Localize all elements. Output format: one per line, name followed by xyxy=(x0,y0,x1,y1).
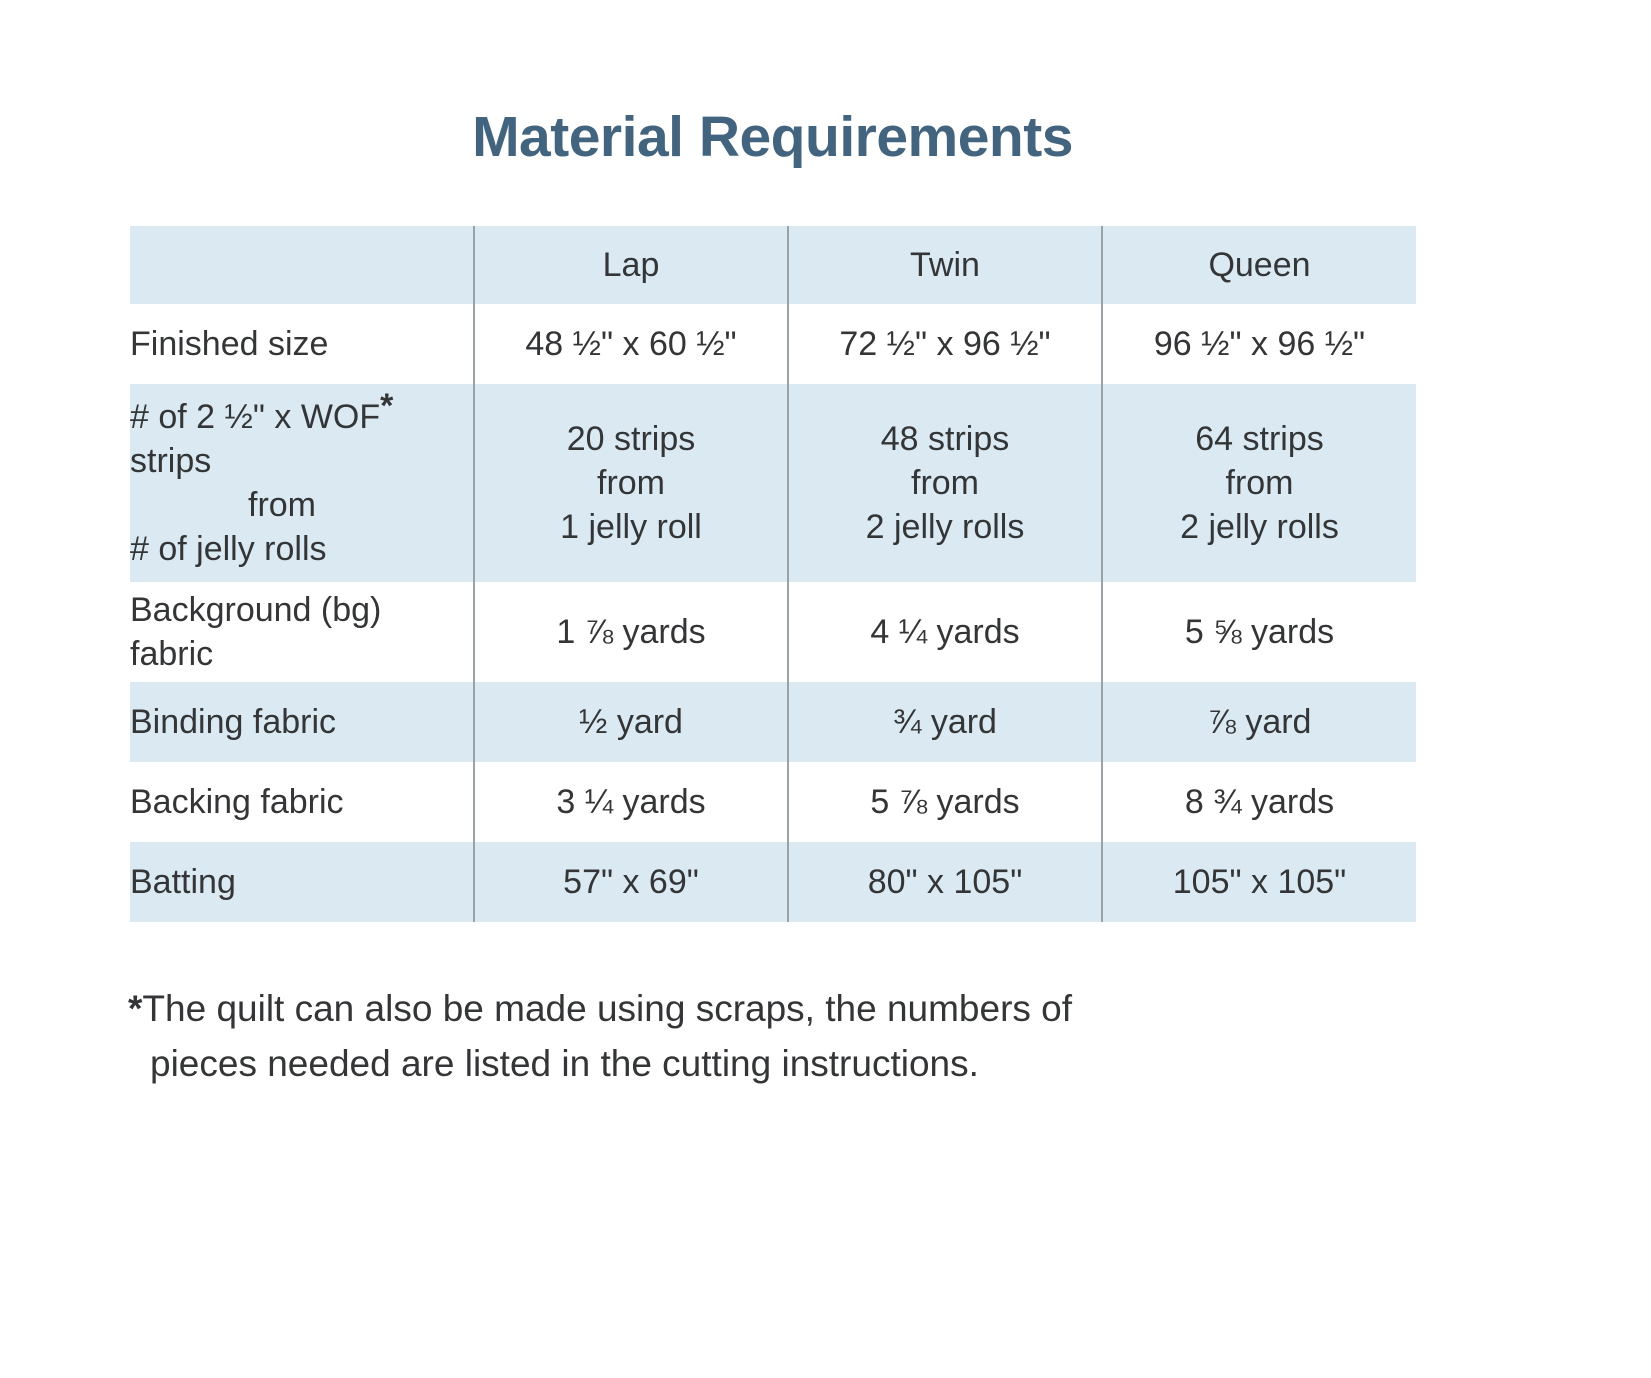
cell-strips-queen: 64 strips from 2 jelly rolls xyxy=(1102,384,1416,582)
table-header-row: Lap Twin Queen xyxy=(130,226,1416,304)
cell-binding-lap: ½ yard xyxy=(474,682,788,762)
material-requirements-table: Lap Twin Queen Finished size 48 ½" x 60 … xyxy=(130,226,1416,922)
header-cell-twin: Twin xyxy=(788,226,1102,304)
cell-background-lap: 1 ⅞ yards xyxy=(474,582,788,682)
row-label-background-fabric: Background (bg) fabric xyxy=(130,582,474,682)
cell-binding-twin: ¾ yard xyxy=(788,682,1102,762)
cell-backing-lap: 3 ¼ yards xyxy=(474,762,788,842)
cell-backing-queen: 8 ¾ yards xyxy=(1102,762,1416,842)
cell-batting-queen: 105" x 105" xyxy=(1102,842,1416,922)
row-label-background-fabric-text: Background (bg) fabric xyxy=(130,588,473,676)
cell-batting-lap: 57" x 69" xyxy=(474,842,788,922)
cell-strips-lap-text: 20 strips from 1 jelly roll xyxy=(475,417,787,550)
row-label-strips-line1: # of 2 ½" x WOF* xyxy=(130,395,473,439)
header-cell-blank xyxy=(130,226,474,304)
footnote-asterisk: * xyxy=(128,988,142,1029)
row-label-strips: # of 2 ½" x WOF* strips from # of jelly … xyxy=(130,384,474,582)
cell-finished-size-queen: 96 ½" x 96 ½" xyxy=(1102,304,1416,384)
cell-strips-twin-text: 48 strips from 2 jelly rolls xyxy=(789,417,1101,550)
cell-strips-lap: 20 strips from 1 jelly roll xyxy=(474,384,788,582)
table-row: Background (bg) fabric 1 ⅞ yards 4 ¼ yar… xyxy=(130,582,1416,682)
row-label-binding-fabric: Binding fabric xyxy=(130,682,474,762)
header-cell-queen: Queen xyxy=(1102,226,1416,304)
table-row: Batting 57" x 69" 80" x 105" 105" x 105" xyxy=(130,842,1416,922)
footnote: *The quilt can also be made using scraps… xyxy=(128,982,1428,1092)
cell-strips-twin: 48 strips from 2 jelly rolls xyxy=(788,384,1102,582)
page-title: Material Requirements xyxy=(0,104,1545,170)
row-label-strips-line3: from xyxy=(130,483,473,527)
row-label-strips-text1: # of 2 ½" x WOF xyxy=(130,398,380,436)
row-label-backing-fabric: Backing fabric xyxy=(130,762,474,842)
table-row: # of 2 ½" x WOF* strips from # of jelly … xyxy=(130,384,1416,582)
table-row: Backing fabric 3 ¼ yards 5 ⅞ yards 8 ¾ y… xyxy=(130,762,1416,842)
cell-finished-size-twin: 72 ½" x 96 ½" xyxy=(788,304,1102,384)
row-label-strips-line4: # of jelly rolls xyxy=(130,527,473,571)
material-requirements-table-wrap: Lap Twin Queen Finished size 48 ½" x 60 … xyxy=(130,226,1416,922)
asterisk-marker: * xyxy=(380,387,393,425)
table-row: Binding fabric ½ yard ¾ yard ⅞ yard xyxy=(130,682,1416,762)
footnote-line-2: pieces needed are listed in the cutting … xyxy=(128,1037,1428,1092)
table-row: Finished size 48 ½" x 60 ½" 72 ½" x 96 ½… xyxy=(130,304,1416,384)
cell-strips-queen-text: 64 strips from 2 jelly rolls xyxy=(1103,417,1416,550)
material-requirements-page: Material Requirements Lap Twin Queen Fin… xyxy=(0,0,1651,1378)
cell-batting-twin: 80" x 105" xyxy=(788,842,1102,922)
row-label-batting: Batting xyxy=(130,842,474,922)
footnote-line-1: The quilt can also be made using scraps,… xyxy=(142,988,1072,1029)
header-cell-lap: Lap xyxy=(474,226,788,304)
row-label-finished-size: Finished size xyxy=(130,304,474,384)
cell-binding-queen: ⅞ yard xyxy=(1102,682,1416,762)
cell-backing-twin: 5 ⅞ yards xyxy=(788,762,1102,842)
cell-background-queen: 5 ⅝ yards xyxy=(1102,582,1416,682)
cell-finished-size-lap: 48 ½" x 60 ½" xyxy=(474,304,788,384)
cell-background-twin: 4 ¼ yards xyxy=(788,582,1102,682)
row-label-strips-line2: strips xyxy=(130,439,473,483)
